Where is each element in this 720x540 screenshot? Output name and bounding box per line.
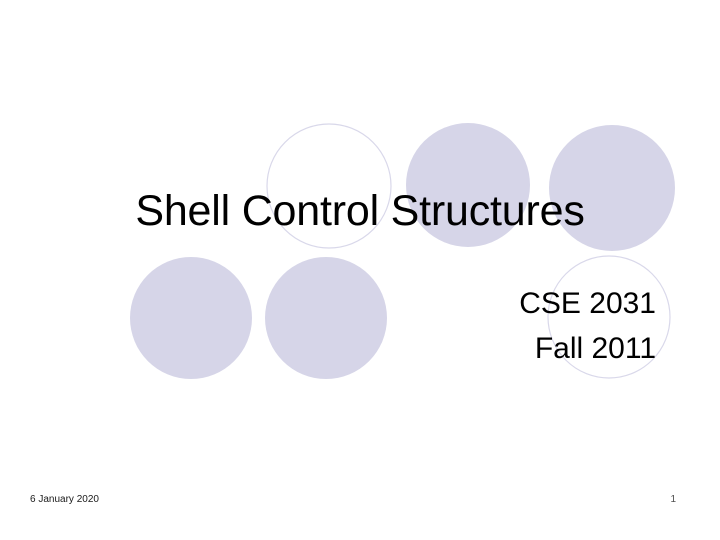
slide-title: Shell Control Structures	[54, 188, 666, 234]
subtitle-line-course: CSE 2031	[200, 281, 656, 326]
subtitle-line-term: Fall 2011	[200, 326, 656, 371]
footer-page-number: 1	[620, 494, 676, 506]
presentation-slide: Shell Control Structures CSE 2031 Fall 2…	[0, 0, 720, 540]
footer-date: 6 January 2020	[30, 494, 99, 506]
decorative-circles-group	[0, 0, 720, 540]
subtitle-placeholder: CSE 2031 Fall 2011	[200, 281, 656, 371]
title-placeholder: Shell Control Structures	[54, 188, 666, 234]
